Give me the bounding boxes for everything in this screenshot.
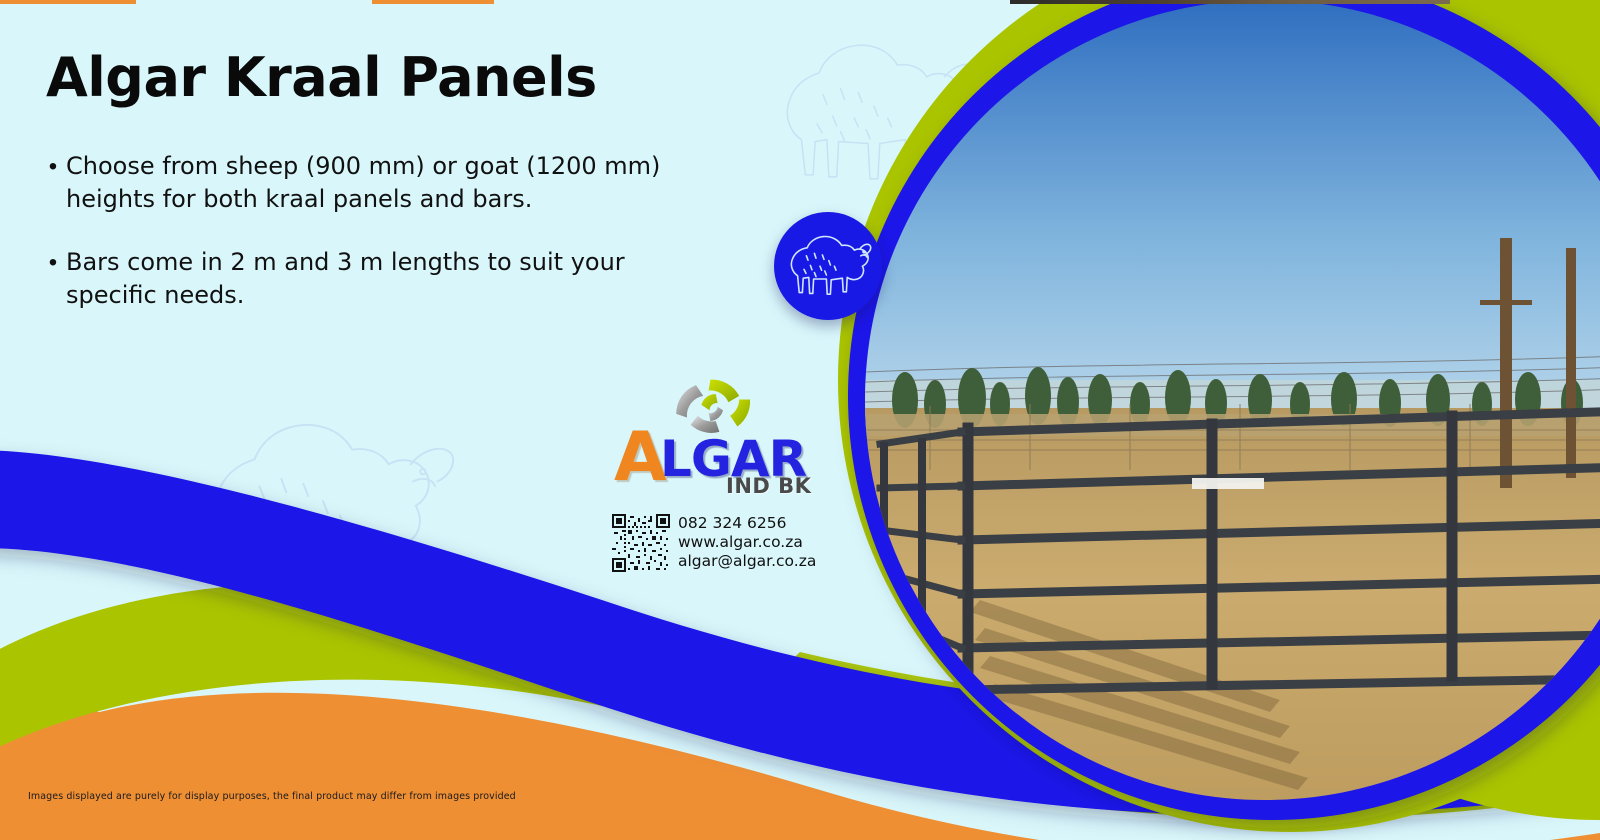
feature-bullet-list: • Choose from sheep (900 mm) or goat (12… (40, 150, 700, 342)
disclaimer-text: Images displayed are purely for display … (28, 791, 516, 802)
contact-phone[interactable]: 082 324 6256 (678, 514, 816, 533)
algar-logo: A LGAR IND BK (612, 372, 812, 494)
contact-lines: 082 324 6256 www.algar.co.za algar@algar… (678, 514, 816, 571)
list-item: • Bars come in 2 m and 3 m lengths to su… (40, 246, 700, 312)
panel-label-tag (1192, 478, 1264, 489)
contact-website[interactable]: www.algar.co.za (678, 533, 816, 552)
bullet-text: Choose from sheep (900 mm) or goat (1200… (66, 150, 700, 216)
slide-canvas: Algar Kraal Panels • Choose from sheep (… (0, 0, 1600, 840)
orange-bar-mid (372, 0, 494, 4)
sheep-icon (784, 228, 872, 306)
logo-letter-a: A (614, 424, 667, 492)
bullet-marker-icon: • (40, 246, 66, 312)
bullet-marker-icon: • (40, 150, 66, 216)
orange-bar-left (0, 0, 136, 4)
dark-bar-right (1010, 0, 1450, 4)
qr-code-icon (612, 514, 670, 572)
page-title: Algar Kraal Panels (46, 48, 597, 107)
sheep-badge (774, 212, 882, 320)
contact-block: 082 324 6256 www.algar.co.za algar@algar… (612, 514, 816, 572)
contact-email[interactable]: algar@algar.co.za (678, 552, 816, 571)
logo-swoosh-icon (660, 372, 768, 436)
list-item: • Choose from sheep (900 mm) or goat (12… (40, 150, 700, 216)
logo-subtitle: IND BK (726, 476, 811, 497)
bullet-text: Bars come in 2 m and 3 m lengths to suit… (66, 246, 700, 312)
